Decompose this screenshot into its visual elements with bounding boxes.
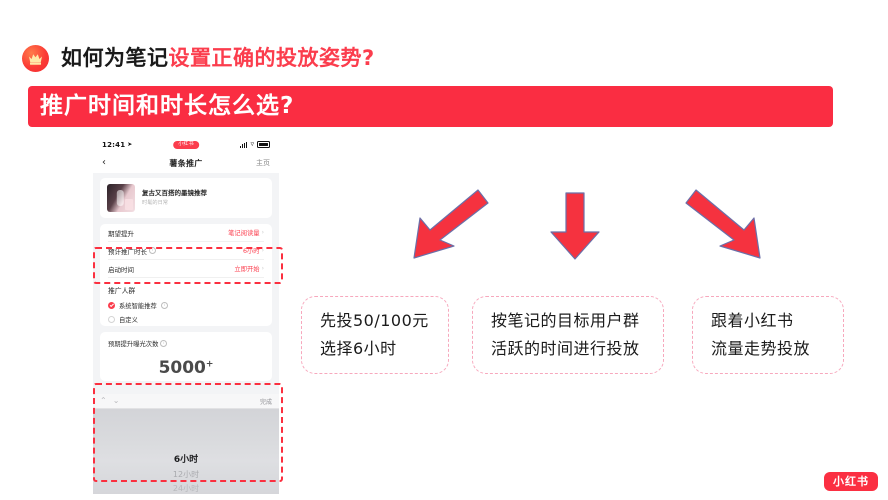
exposure-value: 5000+ [108, 360, 264, 377]
location-arrow-icon: ➤ [127, 141, 132, 148]
exposure-label-text: 预期提升曝光次数 [108, 339, 158, 348]
signal-bars-icon [240, 142, 248, 148]
callout-box-2: 按笔记的目标用户群 活跃的时间进行投放 [472, 296, 664, 374]
audience-option-label: 系统智能推荐 [119, 301, 157, 310]
info-icon[interactable]: i [161, 302, 168, 309]
page-title: 如何为笔记设置正确的投放姿势? [22, 45, 375, 72]
exposure-number: 5000 [159, 358, 206, 378]
note-subtitle: 时髦的日常 [142, 200, 207, 207]
wifi-icon: ▿ [250, 141, 254, 148]
exposure-label: 预期提升曝光次数 i [108, 339, 264, 348]
nav-home-link[interactable]: 主页 [256, 158, 270, 168]
phone-status-bar: 12:41 ➤ 小红书 ▿ [93, 136, 279, 153]
note-card[interactable]: 复古又百搭的墨镜推荐 时髦的日常 [100, 178, 272, 218]
settings-card: 期望提升 笔记阅读量 › 预计推广时长 i 6小时 › 启动时间 立即开始 › [100, 224, 272, 326]
callout-box-1: 先投50/100元 选择6小时 [301, 296, 449, 374]
chevron-up-icon[interactable]: ⌃ [100, 397, 107, 405]
setting-row-duration[interactable]: 预计推广时长 i 6小时 › [108, 242, 264, 259]
arrow-down-right [682, 186, 768, 262]
setting-value: 6小时 › [243, 246, 264, 255]
chevron-right-icon: › [262, 265, 264, 272]
nav-title: 薯条推广 [169, 158, 202, 169]
exposure-card: 预期提升曝光次数 i 5000+ [100, 332, 272, 381]
setting-value: 笔记阅读量 › [228, 228, 264, 237]
exposure-suffix: + [206, 359, 214, 369]
info-icon[interactable]: i [149, 247, 156, 254]
audience-option-custom[interactable]: 自定义 [108, 312, 264, 326]
callout-line: 先投50/100元 [320, 307, 429, 335]
callout-line: 跟着小红书 [711, 307, 794, 335]
setting-row-goal[interactable]: 期望提升 笔记阅读量 › [108, 224, 264, 241]
chevron-down-icon[interactable]: ⌄ [113, 397, 120, 405]
arrow-down-left [406, 186, 492, 262]
setting-label: 期望提升 [108, 228, 134, 238]
title-black-part: 如何为笔记 [61, 46, 169, 70]
phone-screenshot: 12:41 ➤ 小红书 ▿ ‹ 薯条推广 主页 复古又百搭的墨镜推荐 时髦的日常… [93, 136, 279, 494]
chevron-right-icon: › [262, 229, 264, 236]
banner-text: 推广时间和时长怎么选? [28, 95, 294, 118]
picker-wheel[interactable]: 6小时 12小时 24小时 [93, 409, 279, 494]
picker-toolbar: ⌃ ⌄ 完成 [93, 394, 279, 409]
status-indicators: ▿ [240, 141, 270, 149]
setting-label: 启动时间 [108, 264, 134, 274]
chevron-right-icon: › [262, 247, 264, 254]
setting-label-text: 预计推广时长 [108, 246, 147, 256]
arrow-down [547, 190, 603, 262]
phone-nav-bar: ‹ 薯条推广 主页 [93, 153, 279, 173]
note-title: 复古又百搭的墨镜推荐 [142, 189, 207, 197]
picker-done-button[interactable]: 完成 [260, 397, 272, 406]
duration-picker[interactable]: ⌃ ⌄ 完成 6小时 12小时 24小时 [93, 394, 279, 494]
info-icon[interactable]: i [160, 340, 167, 347]
xiaohongshu-logo: 小红书 [824, 472, 878, 491]
callout-line: 按笔记的目标用户群 [491, 307, 640, 335]
setting-value: 立即开始 › [234, 264, 264, 273]
audience-option-label: 自定义 [119, 315, 138, 324]
section-banner: 推广时间和时长怎么选? [28, 86, 833, 127]
callout-line: 流量走势投放 [711, 335, 810, 363]
callout-line: 选择6小时 [320, 335, 397, 363]
setting-value-text: 6小时 [243, 246, 260, 255]
setting-row-start-time[interactable]: 启动时间 立即开始 › [108, 260, 264, 277]
status-badge: 小红书 [173, 141, 199, 149]
setting-value-text: 立即开始 [234, 264, 259, 273]
setting-value-text: 笔记阅读量 [228, 228, 259, 237]
note-text: 复古又百搭的墨镜推荐 时髦的日常 [142, 189, 207, 207]
radio-checked-icon [108, 302, 115, 309]
note-thumbnail [107, 184, 135, 212]
callout-box-3: 跟着小红书 流量走势投放 [692, 296, 844, 374]
audience-title: 推广人群 [108, 278, 264, 298]
radio-unchecked-icon [108, 316, 115, 323]
battery-icon [257, 141, 270, 149]
setting-label: 预计推广时长 i [108, 246, 156, 256]
picker-option[interactable]: 12小时 [93, 471, 279, 479]
title-red-part: 设置正确的投放姿势? [169, 46, 375, 70]
picker-option[interactable]: 24小时 [93, 485, 279, 493]
crown-badge-icon [22, 45, 49, 72]
callout-line: 活跃的时间进行投放 [491, 335, 640, 363]
back-icon[interactable]: ‹ [102, 158, 106, 168]
status-time: 12:41 [102, 141, 125, 149]
picker-option-selected[interactable]: 6小时 [93, 456, 279, 465]
audience-option-auto[interactable]: 系统智能推荐 i [108, 298, 264, 312]
